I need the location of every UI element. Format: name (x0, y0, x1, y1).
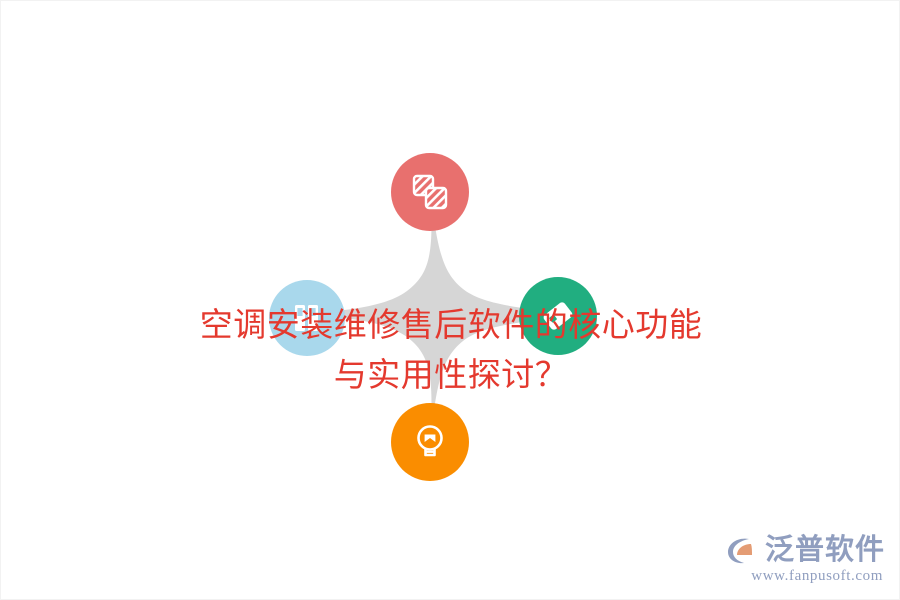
node-top[interactable] (391, 153, 469, 231)
watermark-url: www.fanpusoft.com (751, 568, 883, 585)
watermark-brand: 泛普软件 (765, 536, 885, 565)
node-right[interactable] (519, 277, 597, 355)
watermark: 泛普软件 www.fanpusoft.com (727, 535, 885, 585)
book-icon (289, 300, 325, 336)
diagram-graphic (231, 141, 671, 486)
page-canvas: 空调安装维修售后软件的核心功能 与实用性探讨？ 泛普软件 www.fanpuso… (0, 0, 900, 600)
copy-duplicate-icon (409, 171, 451, 213)
node-bottom[interactable] (391, 403, 469, 481)
node-left[interactable] (269, 280, 345, 356)
fanpu-swoosh-logo-icon (727, 535, 761, 565)
tag-icon (538, 296, 578, 336)
lightbulb-icon (410, 421, 450, 463)
watermark-row: 泛普软件 (727, 535, 885, 565)
